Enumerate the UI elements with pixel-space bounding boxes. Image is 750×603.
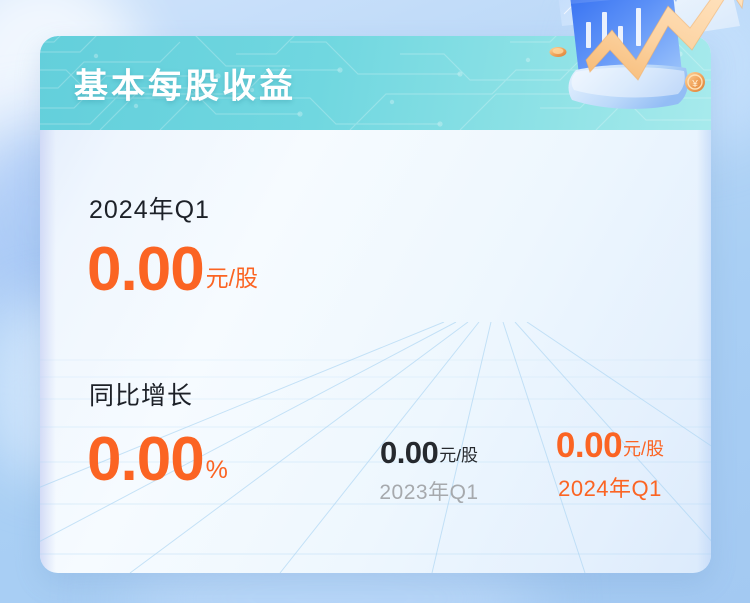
- growth-chart-document-arrow-icon: ¥: [540, 0, 750, 136]
- primary-metric-unit: 元/股: [206, 259, 258, 298]
- growth-metric-unit: %: [206, 456, 228, 488]
- comparison-value-group: 0.00 元/股: [341, 437, 517, 468]
- growth-metric-value: 0.00: [87, 431, 204, 488]
- page-title: 基本每股收益: [74, 59, 296, 108]
- comparison-caption: 2023年Q1: [341, 476, 517, 506]
- comparison-value-group: 0.00 元/股: [517, 428, 703, 463]
- gold-coin-icon: ¥: [685, 72, 705, 92]
- growth-metric-label: 同比增长: [89, 376, 193, 412]
- gold-coin-icon: [550, 47, 567, 57]
- comparison-unit: 元/股: [623, 435, 664, 463]
- comparison-value: 0.00: [380, 437, 438, 468]
- primary-metric-label: 2024年Q1: [89, 190, 210, 226]
- growth-metric-value-group: 0.00 %: [87, 431, 228, 488]
- comparison-item-current: 0.00 元/股 2024年Q1: [517, 428, 703, 503]
- primary-metric-value: 0.00: [87, 241, 204, 298]
- comparison-unit: 元/股: [439, 441, 478, 468]
- primary-metric-value-group: 0.00 元/股: [87, 241, 258, 298]
- comparison-item-previous: 0.00 元/股 2023年Q1: [341, 437, 517, 506]
- svg-text:¥: ¥: [691, 79, 698, 90]
- comparison-caption: 2024年Q1: [517, 471, 703, 503]
- comparison-value: 0.00: [556, 428, 622, 463]
- infographic-card-page: 基本每股收益 2024年Q1 0.00 元/股 同比增长 0.00 % 0.00…: [0, 0, 750, 603]
